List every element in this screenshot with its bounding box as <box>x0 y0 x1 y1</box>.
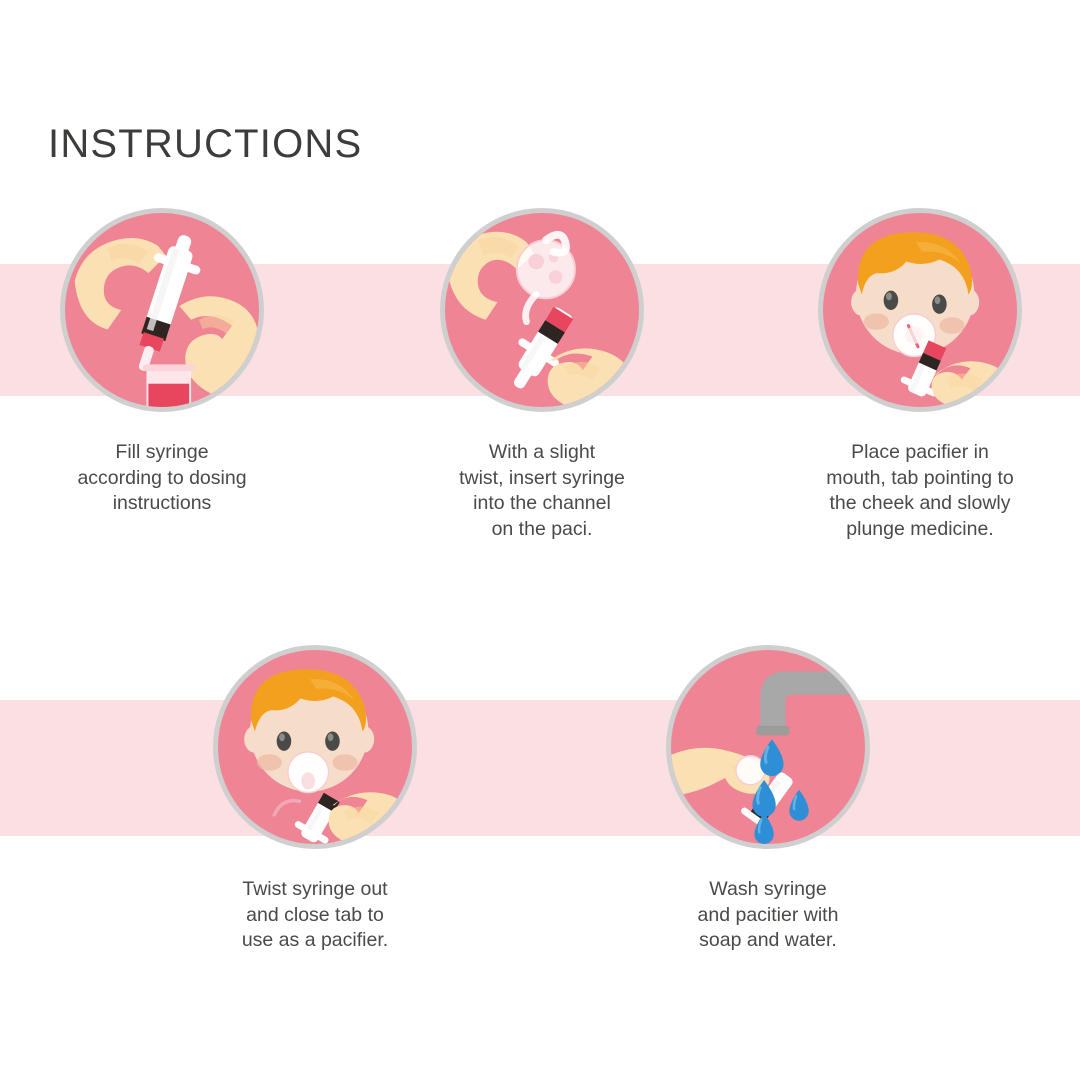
caption-line: into the channel <box>392 491 692 517</box>
insert-syringe-into-pacifier-icon <box>445 213 639 407</box>
circle-frame <box>440 208 644 412</box>
step-item: With a slight twist, insert syringe into… <box>392 208 692 542</box>
circle-frame <box>666 645 870 849</box>
baby-with-pacifier-plunge-icon <box>823 213 1017 407</box>
step-illustration-circle <box>213 645 417 849</box>
caption-line: on the paci. <box>392 517 692 543</box>
step-illustration-circle <box>440 208 644 412</box>
step-item: Place pacifier in mouth, tab pointing to… <box>770 208 1070 542</box>
caption-line: plunge medicine. <box>770 517 1070 543</box>
caption-line: according to dosing <box>12 466 312 492</box>
step-caption: Place pacifier in mouth, tab pointing to… <box>770 440 1070 542</box>
caption-line: With a slight <box>392 440 692 466</box>
caption-line: twist, insert syringe <box>392 466 692 492</box>
step-item: Twist syringe out and close tab to use a… <box>165 645 465 954</box>
step-caption: Wash syringe and pacitier with soap and … <box>618 877 918 954</box>
step-caption: Fill syringe according to dosing instruc… <box>12 440 312 517</box>
step-illustration-circle <box>818 208 1022 412</box>
step-item: Fill syringe according to dosing instruc… <box>12 208 312 517</box>
syringe-filling-from-cup-icon <box>65 213 259 407</box>
caption-line: Place pacifier in <box>770 440 1070 466</box>
caption-line: the cheek and slowly <box>770 491 1070 517</box>
wash-under-faucet-icon <box>671 650 865 844</box>
caption-line: and pacitier with <box>618 903 918 929</box>
caption-line: instructions <box>12 491 312 517</box>
caption-line: Wash syringe <box>618 877 918 903</box>
caption-line: Fill syringe <box>12 440 312 466</box>
step-caption: Twist syringe out and close tab to use a… <box>165 877 465 954</box>
caption-line: mouth, tab pointing to <box>770 466 1070 492</box>
caption-line: and close tab to <box>165 903 465 929</box>
page-title: INSTRUCTIONS <box>48 122 362 167</box>
instructions-infographic: INSTRUCTIONS <box>0 0 1080 1080</box>
circle-frame <box>818 208 1022 412</box>
step-item: Wash syringe and pacitier with soap and … <box>618 645 918 954</box>
circle-frame <box>213 645 417 849</box>
step-illustration-circle <box>60 208 264 412</box>
twist-syringe-out-icon <box>218 650 412 844</box>
caption-line: soap and water. <box>618 928 918 954</box>
step-illustration-circle <box>666 645 870 849</box>
caption-line: use as a pacifier. <box>165 928 465 954</box>
circle-frame <box>60 208 264 412</box>
caption-line: Twist syringe out <box>165 877 465 903</box>
step-caption: With a slight twist, insert syringe into… <box>392 440 692 542</box>
